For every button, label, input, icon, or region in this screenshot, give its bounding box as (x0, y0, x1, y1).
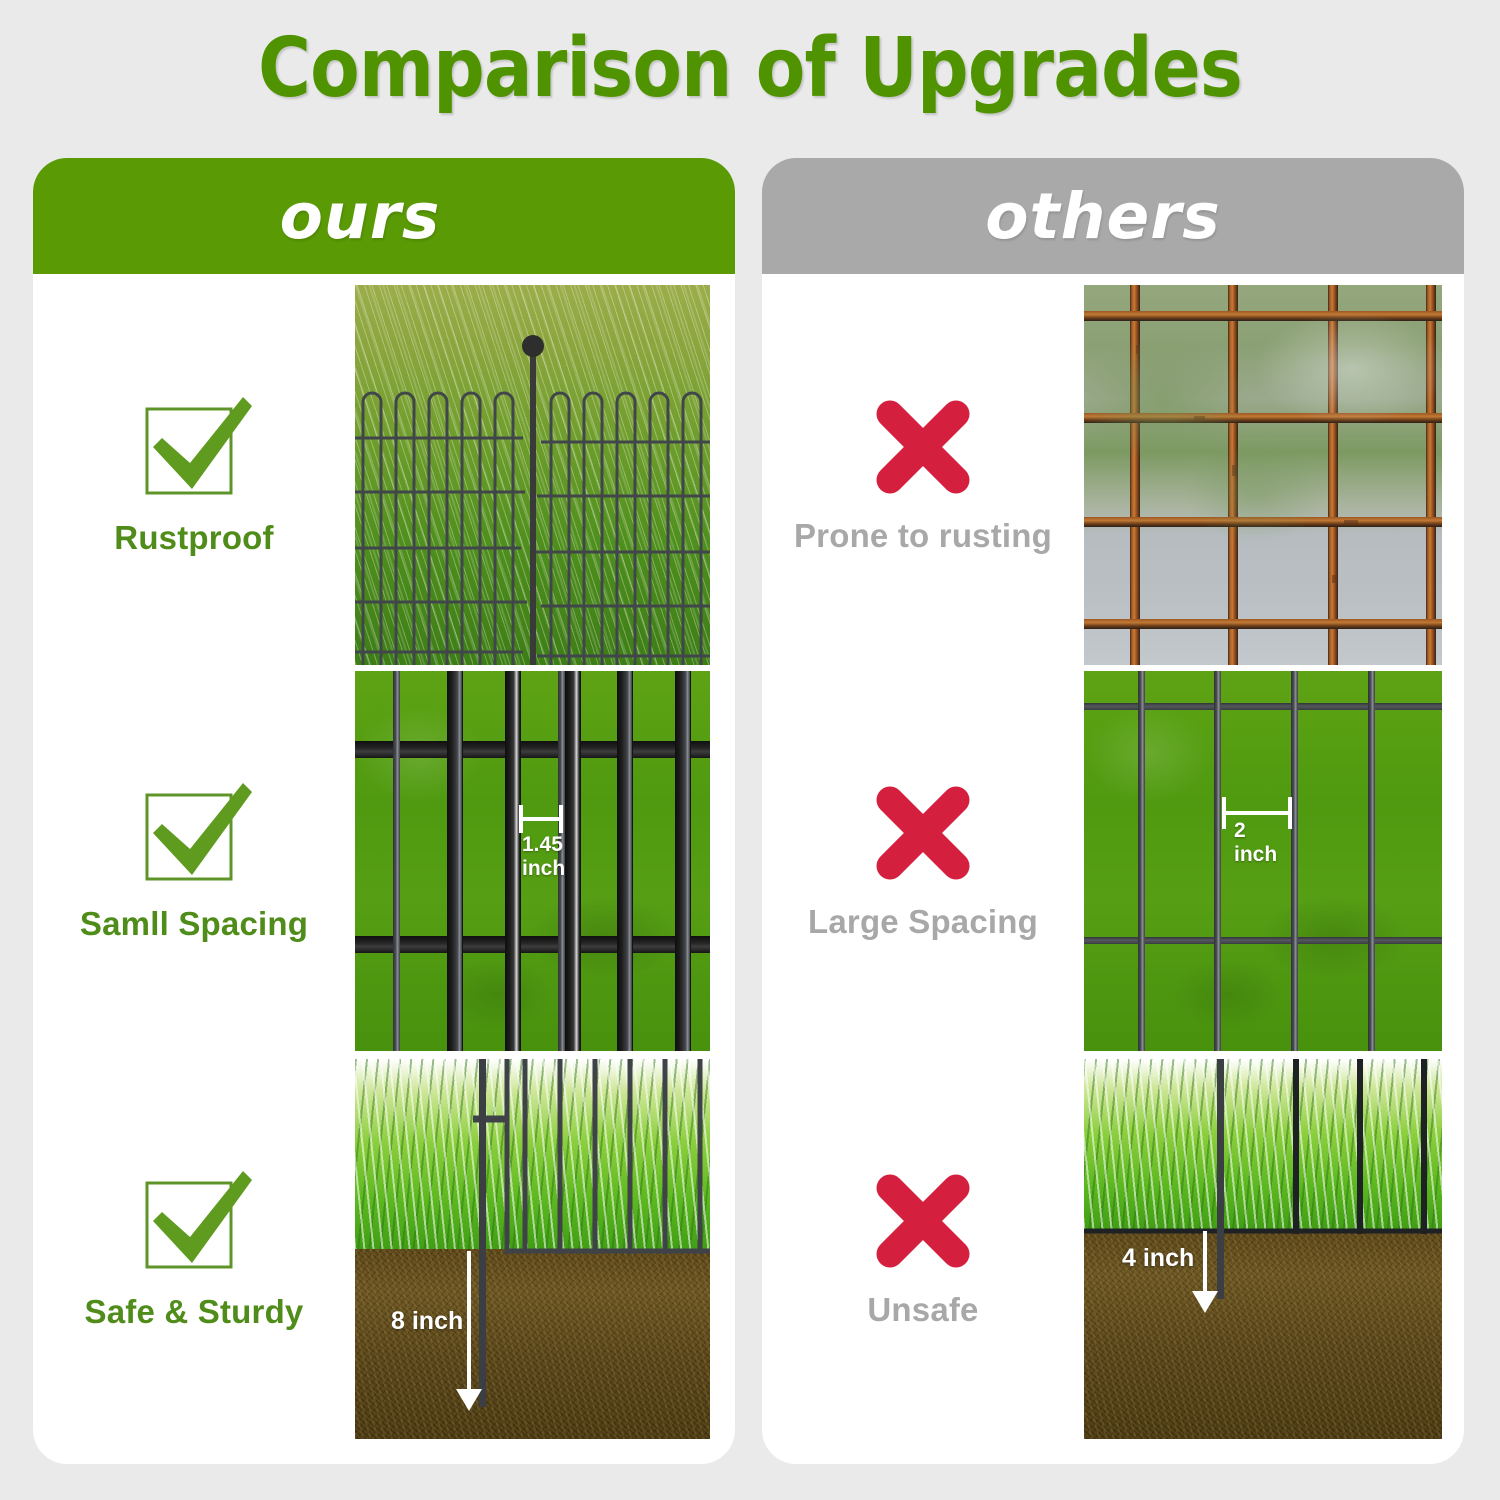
cross-icon (871, 1169, 975, 1273)
column-body-ours: Rustproof (33, 274, 735, 1464)
depth-arrow-line (1203, 1231, 1207, 1293)
feature-cell: Safe & Sturdy (33, 1167, 355, 1331)
depth-arrow-line (467, 1251, 471, 1391)
fence-post (530, 347, 536, 665)
media-rusty-mesh (1084, 285, 1442, 665)
feature-row-rustproof: Rustproof (33, 282, 735, 668)
column-body-others: Prone to rusting (762, 274, 1464, 1464)
feature-cell: Large Spacing (762, 781, 1084, 941)
spacing-dimension-label: 1.45 inch (522, 833, 565, 880)
spacing-dimension-label: 2 inch (1234, 819, 1277, 866)
anchor-stake (479, 1059, 486, 1407)
media-spacing-others: 2 inch (1084, 671, 1442, 1051)
fence-above-ground (1084, 1059, 1442, 1244)
depth-dimension-label: 4 inch (1122, 1244, 1194, 1273)
feature-label: Safe & Sturdy (85, 1293, 304, 1331)
feature-cell: Samll Spacing (33, 779, 355, 943)
feature-cell: Rustproof (33, 393, 355, 557)
anchor-stake (1217, 1059, 1224, 1299)
feature-cell: Unsafe (762, 1169, 1084, 1329)
feature-label: Large Spacing (808, 903, 1038, 941)
feature-label: Unsafe (867, 1291, 978, 1329)
check-icon (135, 1167, 253, 1275)
cross-icon (871, 781, 975, 885)
feature-row-unsafe: Unsafe 4 inch (762, 1056, 1464, 1442)
check-icon (135, 393, 253, 501)
feature-label: Prone to rusting (794, 517, 1052, 555)
check-icon (135, 779, 253, 887)
feature-row-large-spacing: Large Spacing 2 inch (762, 668, 1464, 1054)
depth-arrow-head (456, 1389, 482, 1411)
comparison-infographic: Comparison of Upgrades ours Rustproof (0, 0, 1500, 1500)
media-depth-ours: 8 inch (355, 1059, 710, 1439)
column-ours: ours Rustproof (33, 158, 735, 1464)
post-finial (522, 335, 544, 357)
feature-row-rusting: Prone to rusting (762, 282, 1464, 668)
fence-above-ground (355, 1059, 710, 1264)
media-depth-others: 4 inch (1084, 1059, 1442, 1439)
feature-row-sturdy: Safe & Sturdy (33, 1056, 735, 1442)
feature-label: Samll Spacing (80, 905, 308, 943)
column-header-others: others (762, 158, 1464, 274)
column-others: others Prone to rusting (762, 158, 1464, 1464)
feature-label: Rustproof (114, 519, 273, 557)
depth-arrow-head (1192, 1291, 1218, 1313)
column-header-label: ours (280, 180, 441, 253)
media-rain-fence (355, 285, 710, 665)
column-header-ours: ours (33, 158, 735, 274)
depth-dimension-label: 8 inch (391, 1307, 463, 1336)
page-title: Comparison of Upgrades (90, 26, 1410, 112)
feature-cell: Prone to rusting (762, 395, 1084, 555)
media-spacing-ours: 1.45 inch (355, 671, 710, 1051)
cross-icon (871, 395, 975, 499)
column-header-label: others (985, 180, 1221, 253)
feature-row-spacing: Samll Spacing (33, 668, 735, 1054)
